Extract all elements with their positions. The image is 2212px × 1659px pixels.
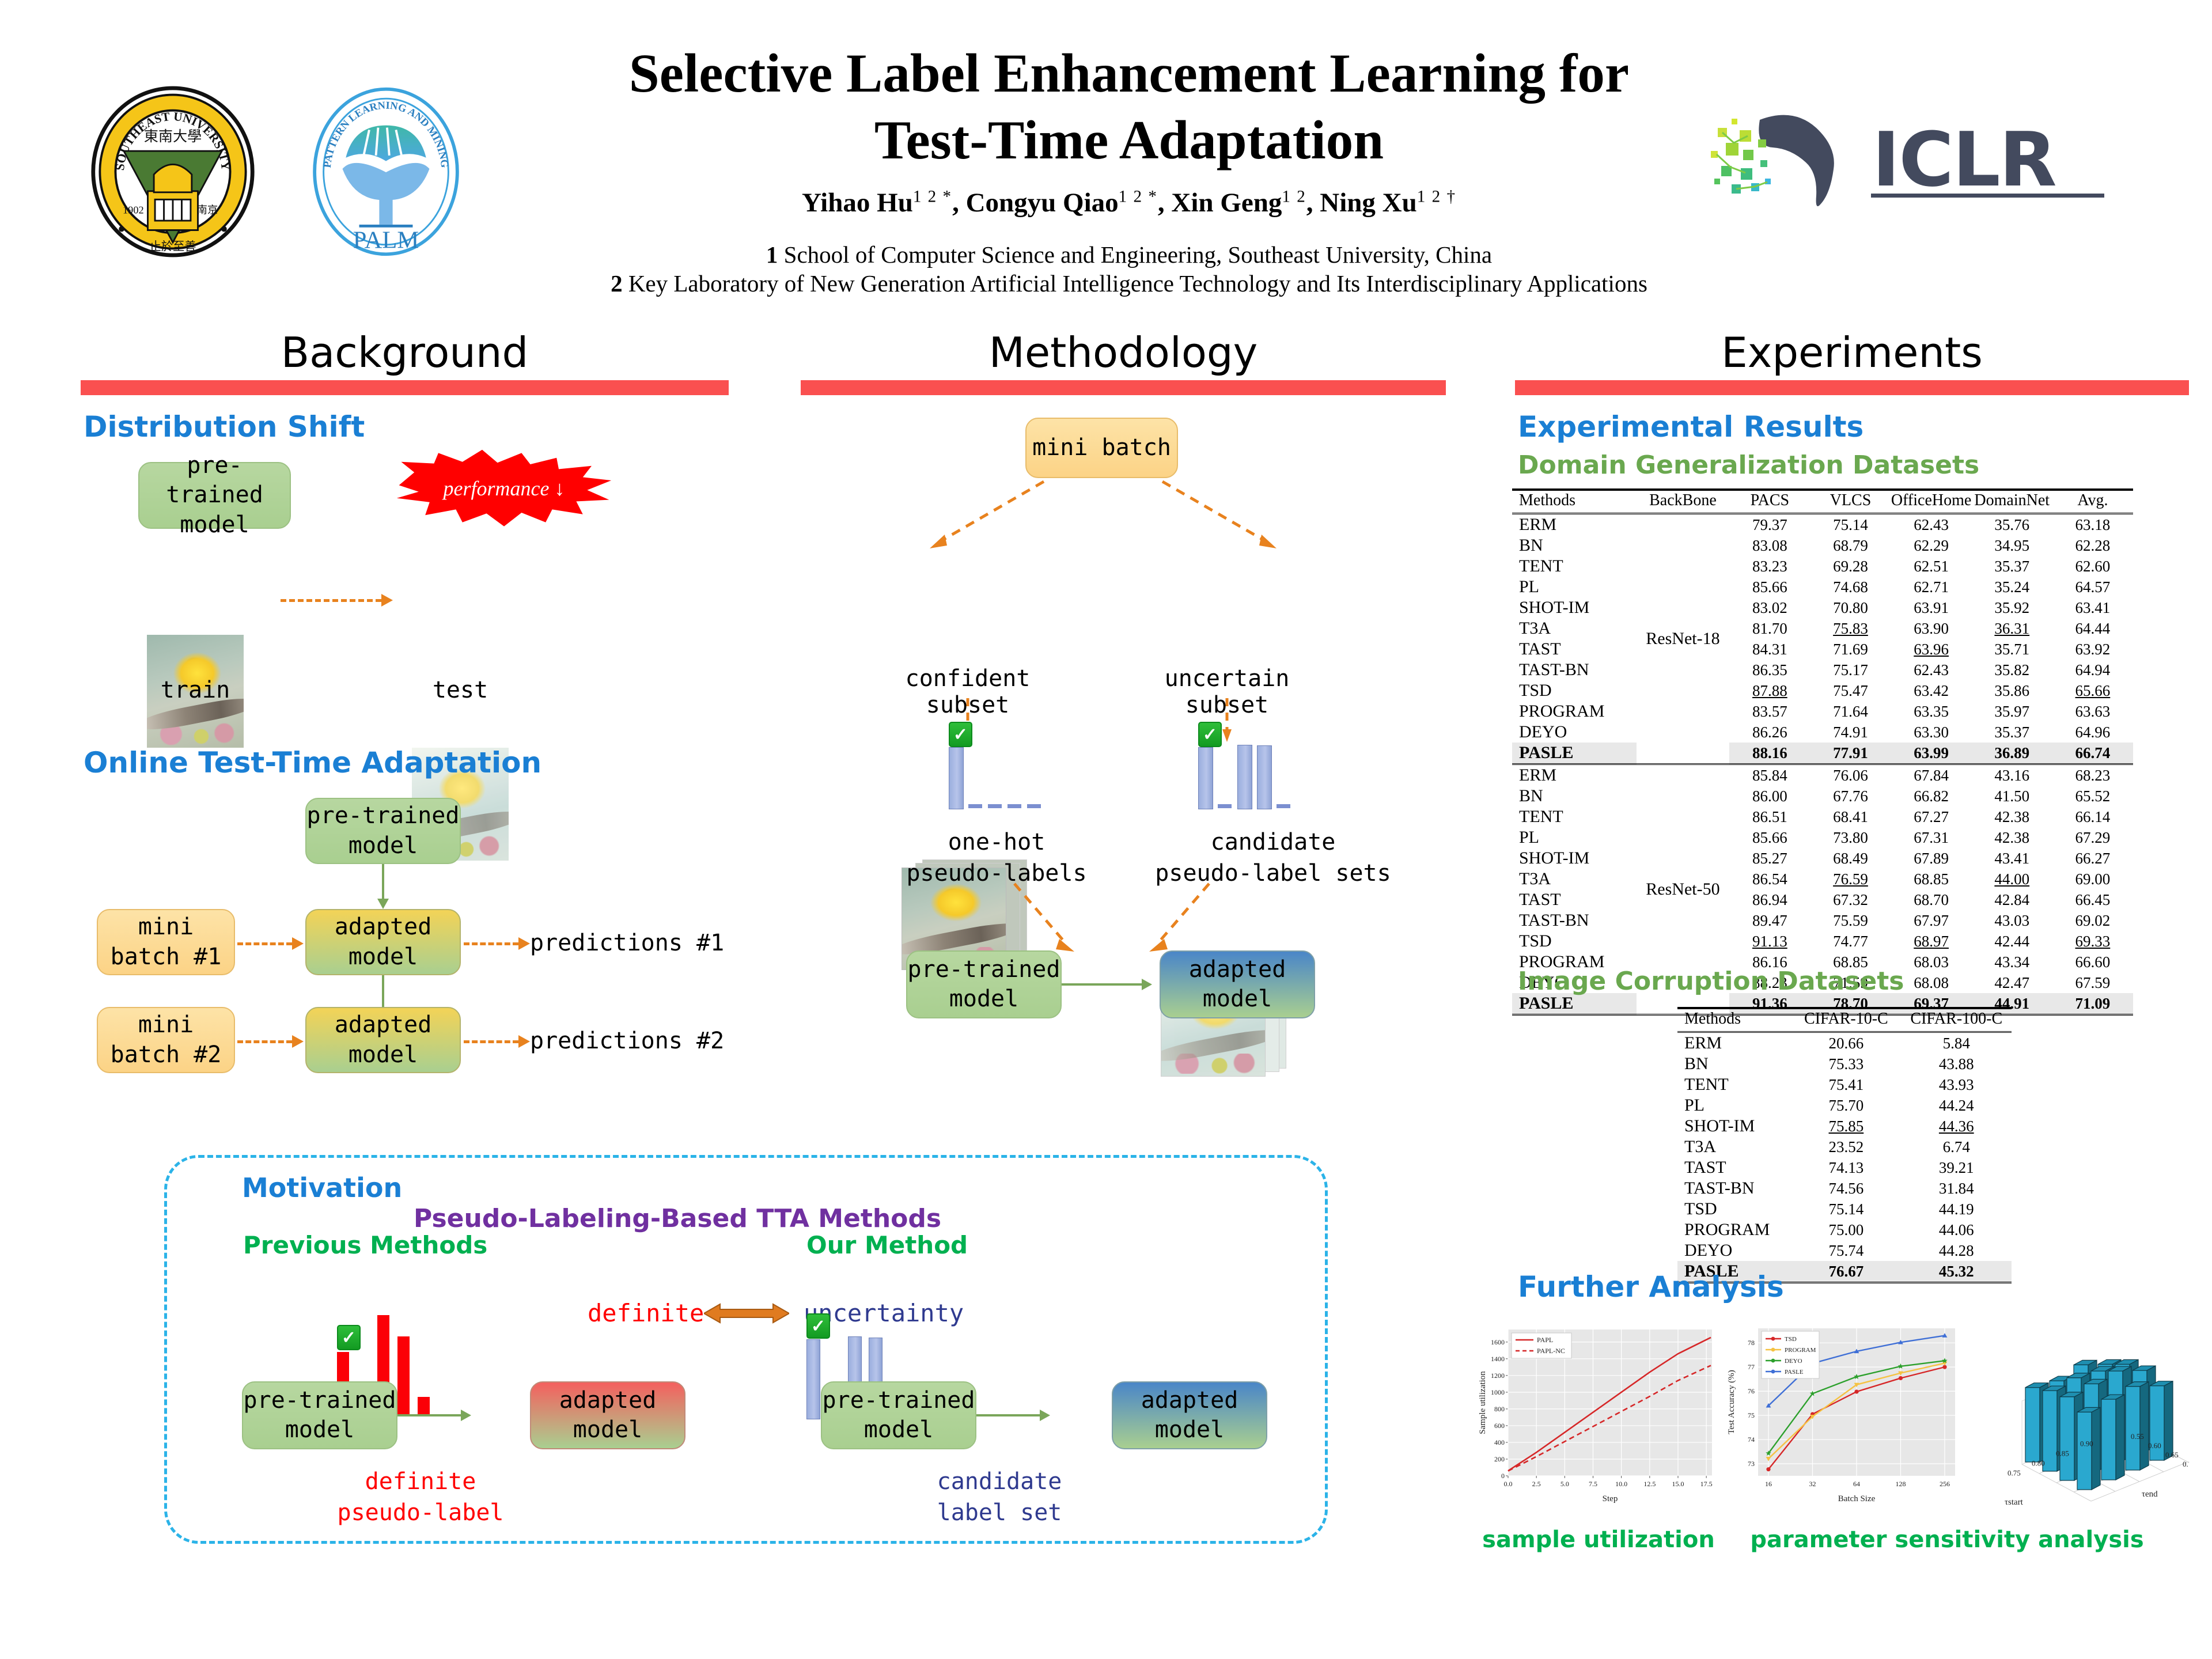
table-cell: 42.47 — [1972, 972, 2052, 993]
method-name: PL — [1512, 827, 1637, 848]
affiliation-1-text: School of Computer Science and Engineeri… — [784, 241, 1492, 268]
table-cell: 75.14 — [1791, 1199, 1901, 1219]
motivation-right-link-arrow — [1040, 1410, 1050, 1421]
svg-text:64: 64 — [1853, 1480, 1860, 1488]
svg-text:2.5: 2.5 — [1532, 1480, 1541, 1488]
one-hot-pseudo-labels-label: one-hot pseudo-labels — [904, 827, 1089, 889]
table-cell: 86.00 — [1729, 786, 1810, 806]
table-cell: 74.68 — [1810, 577, 1891, 597]
subsection-domain-generalization: Domain Generalization Datasets — [1518, 450, 1979, 480]
table-row: TENT83.2369.2862.5135.3762.60 — [1512, 556, 2133, 577]
svg-text:74: 74 — [1748, 1435, 1755, 1444]
table-row: BN86.0067.7666.8241.5065.52 — [1512, 786, 2133, 806]
table-cell: 75.00 — [1791, 1219, 1901, 1240]
table-cell: 76.59 — [1810, 869, 1891, 889]
table-cell: 86.54 — [1729, 869, 1810, 889]
adapted1-to-predictions-arrow — [464, 942, 518, 945]
affiliation-2-marker: 2 — [611, 270, 623, 297]
onehot-to-model-arrow — [1011, 881, 1080, 956]
adapted-model-box-2: adapted model — [305, 1007, 461, 1073]
definite-label: definite — [588, 1299, 704, 1327]
minibatch2-arrowhead — [292, 1035, 304, 1048]
method-name: BN — [1512, 786, 1637, 806]
candidate-check-icon: ✓ — [1198, 722, 1222, 747]
svg-text:Batch Size: Batch Size — [1838, 1494, 1876, 1503]
table-cell: 63.96 — [1891, 639, 1972, 660]
table-cell: 41.50 — [1972, 786, 2052, 806]
svg-text:0.0: 0.0 — [1504, 1480, 1513, 1488]
onehot-bar-stub-2 — [988, 804, 1002, 808]
table-cell: 44.19 — [1902, 1199, 2012, 1219]
confident-check-icon-right: ✓ — [806, 1313, 830, 1339]
table-cell: 44.24 — [1902, 1095, 2012, 1116]
table-cell: 63.99 — [1891, 743, 1972, 764]
table-cell: 62.71 — [1891, 577, 1972, 597]
table-cell: 84.31 — [1729, 639, 1810, 660]
train-to-test-arrow — [281, 599, 381, 602]
table-cell: 75.33 — [1791, 1054, 1901, 1074]
table-cell: 68.23 — [2052, 764, 2133, 786]
column-rule-background — [81, 380, 729, 395]
candidate-set-bar-3 — [1257, 745, 1272, 809]
table-row: SHOT-IM75.8544.36 — [1677, 1116, 2012, 1137]
table-cell: 68.85 — [1891, 869, 1972, 889]
table-cell: 86.51 — [1729, 806, 1810, 827]
table-cell: 85.84 — [1729, 764, 1810, 786]
svg-text:0.90: 0.90 — [2080, 1440, 2093, 1448]
subsection-further-analysis: Further Analysis — [1518, 1270, 1784, 1304]
table-cell: 63.42 — [1891, 680, 1972, 701]
svg-text:1902: 1902 — [123, 204, 144, 216]
table-cell: 67.27 — [1891, 806, 1972, 827]
table-cell: 62.43 — [1891, 514, 1972, 536]
table-cell: 75.85 — [1791, 1116, 1901, 1137]
table-cell: 45.32 — [1902, 1261, 2012, 1283]
method-name: TSD — [1512, 931, 1637, 952]
svg-text:1400: 1400 — [1491, 1355, 1505, 1363]
method-name: TENT — [1512, 806, 1637, 827]
method-name: PASLE — [1512, 743, 1637, 764]
predictions2-arrowhead — [518, 1035, 530, 1048]
table-row: PL75.7044.24 — [1677, 1095, 2012, 1116]
method-name: ERM — [1677, 1032, 1791, 1054]
method-name: SHOT-IM — [1512, 848, 1637, 869]
svg-text:Test Accuracy (%): Test Accuracy (%) — [1727, 1370, 1736, 1434]
method-name: TAST — [1512, 889, 1637, 910]
motivation-pretrained-right: pre-trained model — [821, 1381, 976, 1449]
svg-text:DEYO: DEYO — [1785, 1358, 1802, 1365]
method-name: TENT — [1677, 1074, 1791, 1095]
table-cell: 83.23 — [1729, 556, 1810, 577]
author-list: Yihao Hu1 2 *, Congyu Qiao1 2 *, Xin Gen… — [611, 187, 1647, 218]
domain-generalization-table: MethodsBackBonePACSVLCSOfficeHomeDomainN… — [1512, 488, 2133, 1017]
table-row: TSD87.8875.4763.4235.8665.66 — [1512, 680, 2133, 701]
table-row: PASLE88.1677.9163.9936.8966.74 — [1512, 743, 2133, 764]
table-row: DEYO86.2674.9163.3035.3764.96 — [1512, 722, 2133, 743]
table-cell: 67.76 — [1810, 786, 1891, 806]
candidate-bar-1 — [806, 1339, 820, 1419]
backbone-name: ResNet-18 — [1637, 514, 1730, 764]
onehot-bar-stub-4 — [1027, 804, 1041, 808]
table-cell: 68.97 — [1891, 931, 1972, 952]
table-cell: 63.91 — [1891, 597, 1972, 618]
table-cell: 66.82 — [1891, 786, 1972, 806]
column-header: VLCS — [1810, 490, 1891, 514]
table-cell: 62.28 — [2052, 535, 2133, 556]
table-cell: 85.66 — [1729, 827, 1810, 848]
table-cell: 63.63 — [2052, 701, 2133, 722]
svg-text:0.85: 0.85 — [2056, 1449, 2069, 1458]
motivation-title: Motivation — [242, 1172, 402, 1203]
column-header: CIFAR-100-C — [1902, 1008, 2012, 1032]
svg-text:5.0: 5.0 — [1560, 1480, 1569, 1488]
table-cell: 70.80 — [1810, 597, 1891, 618]
method-name: DEYO — [1512, 722, 1637, 743]
methodology-adapted-model: adapted model — [1160, 950, 1315, 1018]
method-name: TAST-BN — [1512, 660, 1637, 680]
confident-check-icon-left: ✓ — [337, 1325, 361, 1350]
table-row: TSD75.1444.19 — [1677, 1199, 2012, 1219]
poster-title-line1: Selective Label Enhancement Learning for — [611, 40, 1647, 107]
table-cell: 43.03 — [1972, 910, 2052, 931]
svg-text:ICLR: ICLR — [1872, 116, 2056, 203]
table-cell: 83.02 — [1729, 597, 1810, 618]
table-row: TAST86.9467.3268.7042.8466.45 — [1512, 889, 2133, 910]
onehot-bar-main — [949, 747, 964, 809]
svg-text:τstart: τstart — [2005, 1498, 2024, 1507]
svg-text:17.5: 17.5 — [1700, 1480, 1713, 1488]
table-row: TAST-BN86.3575.1762.4335.8264.94 — [1512, 660, 2133, 680]
table-cell: 63.18 — [2052, 514, 2133, 536]
table-cell: 68.49 — [1810, 848, 1891, 869]
table-cell: 65.52 — [2052, 786, 2133, 806]
table-cell: 67.29 — [2052, 827, 2133, 848]
column-header: Avg. — [2052, 490, 2133, 514]
svg-text:東南大學: 東南大學 — [144, 128, 202, 145]
table-cell: 44.28 — [1902, 1240, 2012, 1261]
motivation-adapted-left: adapted model — [530, 1381, 685, 1449]
column-header: BackBone — [1637, 490, 1730, 514]
method-name: TAST-BN — [1677, 1178, 1791, 1199]
svg-text:PALM: PALM — [353, 227, 419, 254]
definite-bar-5 — [418, 1397, 430, 1416]
table-cell: 69.33 — [2052, 931, 2133, 952]
table-cell: 42.38 — [1972, 827, 2052, 848]
uncertain-to-candidate-arrow — [1222, 698, 1232, 743]
table-cell: 67.97 — [1891, 910, 1972, 931]
performance-drop-burst: performance ↓ — [395, 448, 613, 529]
subsection-distribution-shift: Distribution Shift — [84, 410, 365, 444]
train-to-test-arrowhead — [381, 594, 393, 607]
svg-text:τend: τend — [2142, 1490, 2158, 1499]
table-row: SHOT-IM83.0270.8063.9135.9263.41 — [1512, 597, 2133, 618]
table-cell: 75.14 — [1810, 514, 1891, 536]
table-cell: 75.17 — [1810, 660, 1891, 680]
table-cell: 64.96 — [2052, 722, 2133, 743]
svg-text:77: 77 — [1748, 1363, 1755, 1371]
motivation-left-link-arrow — [461, 1410, 471, 1421]
method-name: PL — [1512, 577, 1637, 597]
affiliation-2: 2 Key Laboratory of New Generation Artif… — [438, 270, 1820, 297]
column-header: Methods — [1512, 490, 1637, 514]
svg-text:0.65: 0.65 — [2165, 1450, 2179, 1459]
affiliation-1: 1 School of Computer Science and Enginee… — [438, 241, 1820, 268]
table-cell: 65.66 — [2052, 680, 2133, 701]
table-cell: 63.92 — [2052, 639, 2133, 660]
svg-text:Step: Step — [1603, 1494, 1618, 1503]
svg-text:1600: 1600 — [1491, 1338, 1505, 1346]
table-cell: 36.89 — [1972, 743, 2052, 764]
table-cell: 71.69 — [1810, 639, 1891, 660]
adapted2-to-predictions-arrow — [464, 1040, 518, 1043]
table-row: BN83.0868.7962.2934.9562.28 — [1512, 535, 2133, 556]
table-cell: 20.66 — [1791, 1032, 1901, 1054]
table-row: TAST84.3171.6963.9635.7163.92 — [1512, 639, 2133, 660]
svg-text:256: 256 — [1940, 1480, 1950, 1488]
chart-parameter-sensitivity: 767778Test Accuracy(%)0.750.800.850.90τs… — [1959, 1313, 2189, 1512]
method-name: BN — [1512, 535, 1637, 556]
method-name: T3A — [1512, 618, 1637, 639]
table-cell: 35.92 — [1972, 597, 2052, 618]
table-cell: 62.29 — [1891, 535, 1972, 556]
table-cell: 62.51 — [1891, 556, 1972, 577]
table-cell: 77.91 — [1810, 743, 1891, 764]
table-cell: 88.16 — [1729, 743, 1810, 764]
onehot-bar-stub-1 — [968, 804, 982, 808]
table-row: PROGRAM75.0044.06 — [1677, 1219, 2012, 1240]
table-cell: 69.28 — [1810, 556, 1891, 577]
column-header: Methods — [1677, 1008, 1791, 1032]
table-cell: 66.45 — [2052, 889, 2133, 910]
table-cell: 6.74 — [1902, 1137, 2012, 1157]
table-cell: 89.47 — [1729, 910, 1810, 931]
table-cell: 67.89 — [1891, 848, 1972, 869]
table-cell: 74.91 — [1810, 722, 1891, 743]
svg-text:PROGRAM: PROGRAM — [1785, 1347, 1816, 1354]
svg-text:1000: 1000 — [1491, 1388, 1505, 1396]
svg-text:10.0: 10.0 — [1615, 1480, 1627, 1488]
method-name: PROGRAM — [1677, 1219, 1791, 1240]
table-cell: 35.24 — [1972, 577, 2052, 597]
column-header: DomainNet — [1972, 490, 2052, 514]
table-cell: 66.27 — [2052, 848, 2133, 869]
table-cell: 36.31 — [1972, 618, 2052, 639]
svg-text:0.80: 0.80 — [2032, 1459, 2045, 1468]
table-cell: 75.47 — [1810, 680, 1891, 701]
svg-text:800: 800 — [1494, 1405, 1505, 1413]
chart-sample-utilization: 020040060080010001200140016000.02.55.07.… — [1475, 1319, 1722, 1509]
method-name: T3A — [1677, 1137, 1791, 1157]
image-corruption-table: MethodsCIFAR-10-CCIFAR-100-CERM20.665.84… — [1677, 1007, 2012, 1285]
method-name: TAST — [1512, 639, 1637, 660]
table-cell: 44.06 — [1902, 1219, 2012, 1240]
table-cell: 74.77 — [1810, 931, 1891, 952]
column-header: OfficeHome — [1891, 490, 1972, 514]
performance-drop-text: performance ↓ — [444, 476, 565, 501]
table-cell: 43.93 — [1902, 1074, 2012, 1095]
table-cell: 74.13 — [1791, 1157, 1901, 1178]
subsection-image-corruption: Image Corruption Datasets — [1518, 967, 1904, 996]
svg-text:73: 73 — [1748, 1460, 1755, 1468]
table-row: T3A86.5476.5968.8544.0069.00 — [1512, 869, 2133, 889]
table-cell: 35.82 — [1972, 660, 2052, 680]
pretrained-to-adapted-arrowhead-1 — [377, 899, 389, 909]
poster-title-line2: Test-Time Adaptation — [611, 107, 1647, 174]
table-cell: 74.56 — [1791, 1178, 1901, 1199]
svg-text:32: 32 — [1809, 1480, 1816, 1488]
svg-text:15.0: 15.0 — [1672, 1480, 1684, 1488]
table-cell: 86.35 — [1729, 660, 1810, 680]
svg-text:400: 400 — [1494, 1438, 1505, 1446]
table-row: T3A23.526.74 — [1677, 1137, 2012, 1157]
table-cell: 86.26 — [1729, 722, 1810, 743]
svg-text:16: 16 — [1765, 1480, 1772, 1488]
bidirectional-arrow-icon — [704, 1303, 789, 1324]
method-name: PROGRAM — [1512, 701, 1637, 722]
table-cell: 35.76 — [1972, 514, 2052, 536]
table-row: ERMResNet-5085.8476.0667.8443.1668.23 — [1512, 764, 2133, 786]
motivation-right-link — [976, 1414, 1044, 1416]
table-cell: 68.79 — [1810, 535, 1891, 556]
our-method-header: Our Method — [806, 1231, 968, 1259]
candidate-label-set-caption: candidate label set — [907, 1466, 1092, 1528]
table-cell: 87.88 — [1729, 680, 1810, 701]
table-cell: 63.90 — [1891, 618, 1972, 639]
method-name: DEYO — [1677, 1240, 1791, 1261]
column-rule-experiments — [1515, 380, 2189, 395]
table-row: ERM20.665.84 — [1677, 1032, 2012, 1054]
table-cell: 63.35 — [1891, 701, 1972, 722]
svg-text:0.75: 0.75 — [2008, 1469, 2021, 1478]
predictions-1-label: predictions #1 — [530, 930, 732, 956]
table-row: TENT75.4143.93 — [1677, 1074, 2012, 1095]
table-cell: 42.84 — [1972, 889, 2052, 910]
svg-text:200: 200 — [1494, 1455, 1505, 1463]
table-cell: 67.32 — [1810, 889, 1891, 910]
table-cell: 71.64 — [1810, 701, 1891, 722]
table-cell: 66.60 — [2052, 952, 2133, 972]
candidate-to-model-arrow — [1143, 881, 1213, 956]
affiliation-2-text: Key Laboratory of New Generation Artific… — [628, 270, 1647, 297]
svg-text:0.55: 0.55 — [2131, 1432, 2144, 1441]
svg-text:PAPL-NC: PAPL-NC — [1537, 1347, 1565, 1355]
column-rule-methodology — [801, 380, 1446, 395]
method-name: PL — [1677, 1095, 1791, 1116]
minibatch-to-confident-arrow — [922, 478, 1048, 553]
svg-text:1200: 1200 — [1491, 1372, 1505, 1380]
table-cell: 63.30 — [1891, 722, 1972, 743]
caption-sample-utilization: sample utilization — [1480, 1527, 1717, 1553]
southeast-university-logo: SOUTHEAST UNIVERSITY 東南大學 1902 南京 止於至善 — [89, 85, 256, 258]
minibatch2-to-adapted-arrow — [237, 1040, 292, 1043]
table-cell: 69.02 — [2052, 910, 2133, 931]
table-cell: 34.95 — [1972, 535, 2052, 556]
chart-batch-size: 737475767778163264128256Test Accuracy (%… — [1722, 1319, 1964, 1509]
palm-lab-logo: PATTERN LEARNING AND MINING PALM — [305, 85, 467, 258]
table-cell: 35.97 — [1972, 701, 2052, 722]
table-cell: 73.80 — [1810, 827, 1891, 848]
table-cell: 62.60 — [2052, 556, 2133, 577]
svg-text:PASLE: PASLE — [1785, 1369, 1804, 1376]
svg-text:76: 76 — [1748, 1387, 1755, 1395]
table-cell: 63.41 — [2052, 597, 2133, 618]
table-cell: 5.84 — [1902, 1032, 2012, 1054]
methodology-model-link-arrow — [1142, 979, 1152, 990]
svg-text:600: 600 — [1494, 1422, 1505, 1430]
onehot-bar-stub-3 — [1007, 804, 1021, 808]
candidate-set-stub-1 — [1218, 804, 1232, 808]
caption-parameter-sensitivity: parameter sensitivity analysis — [1728, 1527, 2166, 1553]
table-cell: 79.37 — [1729, 514, 1810, 536]
table-cell: 42.38 — [1972, 806, 2052, 827]
table-cell: 39.21 — [1902, 1157, 2012, 1178]
table-cell: 43.16 — [1972, 764, 2052, 786]
table-cell: 76.67 — [1791, 1261, 1901, 1283]
method-name: BN — [1677, 1054, 1791, 1074]
mini-batch-box: mini batch — [1025, 418, 1178, 478]
table-cell: 86.94 — [1729, 889, 1810, 910]
svg-text:78: 78 — [1748, 1339, 1755, 1347]
svg-text:南京: 南京 — [197, 204, 218, 217]
candidate-pseudo-label-sets-label: candidate pseudo-label sets — [1138, 827, 1408, 889]
method-name: T3A — [1512, 869, 1637, 889]
definite-bar-4 — [397, 1336, 410, 1416]
table-row: DEYO75.7444.28 — [1677, 1240, 2012, 1261]
svg-text:75: 75 — [1748, 1411, 1755, 1419]
table-cell: 67.84 — [1891, 764, 1972, 786]
table-cell: 66.74 — [2052, 743, 2133, 764]
table-row: TAST-BN74.5631.84 — [1677, 1178, 2012, 1199]
column-title-methodology: Methodology — [801, 328, 1446, 377]
table-row: PL85.6674.6862.7135.2464.57 — [1512, 577, 2133, 597]
table-cell: 35.37 — [1972, 722, 2052, 743]
table-cell: 66.14 — [2052, 806, 2133, 827]
svg-text:PAPL: PAPL — [1537, 1336, 1553, 1344]
table-header-row: MethodsCIFAR-10-CCIFAR-100-C — [1677, 1008, 2012, 1032]
table-cell: 68.41 — [1810, 806, 1891, 827]
table-cell: 75.70 — [1791, 1095, 1901, 1116]
table-cell: 64.57 — [2052, 577, 2133, 597]
svg-text:128: 128 — [1896, 1480, 1906, 1488]
minibatch1-to-adapted-arrow — [237, 942, 292, 945]
table-cell: 64.94 — [2052, 660, 2133, 680]
svg-text:12.5: 12.5 — [1643, 1480, 1656, 1488]
table-cell: 75.83 — [1810, 618, 1891, 639]
table-cell: 83.57 — [1729, 701, 1810, 722]
pretrained-to-adapted-line-1 — [382, 864, 384, 902]
table-cell: 62.43 — [1891, 660, 1972, 680]
table-cell: 67.59 — [2052, 972, 2133, 993]
candidate-set-bar-2 — [1237, 745, 1252, 809]
table-cell: 43.88 — [1902, 1054, 2012, 1074]
svg-text:0.60: 0.60 — [2148, 1441, 2161, 1450]
train-label: train — [149, 677, 241, 703]
table-row: SHOT-IM85.2768.4967.8943.4166.27 — [1512, 848, 2133, 869]
svg-text:止於至善: 止於至善 — [149, 239, 196, 253]
minibatch1-arrowhead — [292, 937, 304, 950]
table-cell: 43.41 — [1972, 848, 2052, 869]
method-name: PASLE — [1512, 993, 1637, 1015]
table-cell: 75.41 — [1791, 1074, 1901, 1095]
table-cell: 85.27 — [1729, 848, 1810, 869]
table-row: ERMResNet-1879.3775.1462.4335.7663.18 — [1512, 514, 2133, 536]
table-cell: 81.70 — [1729, 618, 1810, 639]
table-cell: 71.09 — [2052, 993, 2133, 1015]
table-cell: 67.31 — [1891, 827, 1972, 848]
table-cell: 68.70 — [1891, 889, 1972, 910]
table-cell: 91.13 — [1729, 931, 1810, 952]
onehot-check-icon: ✓ — [949, 722, 972, 747]
